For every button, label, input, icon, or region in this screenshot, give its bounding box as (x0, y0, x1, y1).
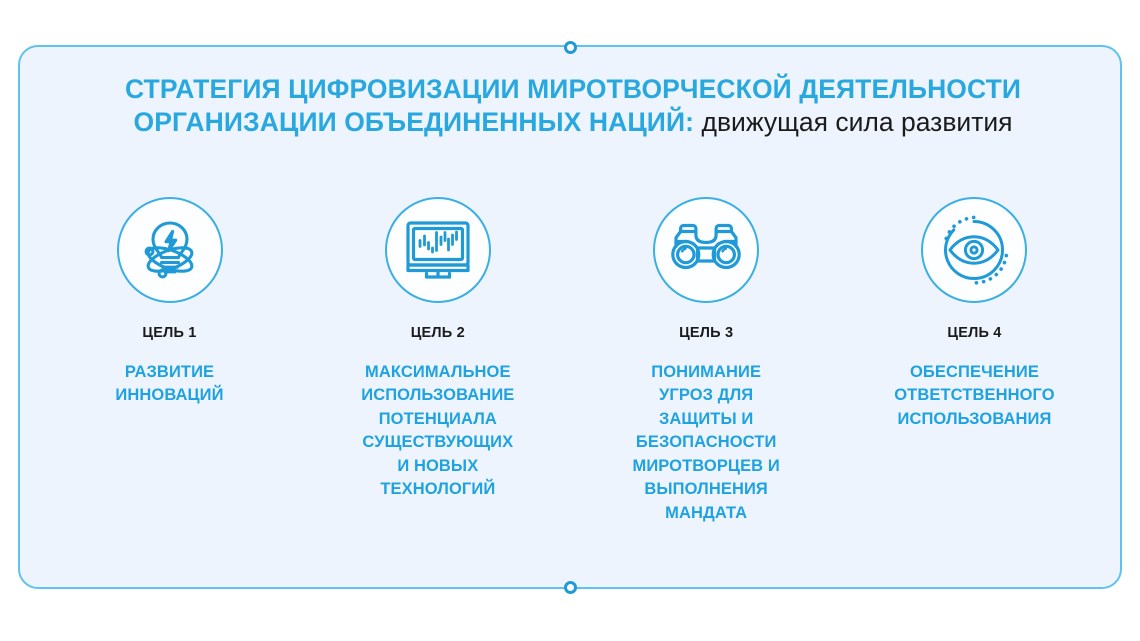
goal-3-icon-circle (653, 197, 759, 303)
bottom-connector-dot (564, 581, 577, 594)
title-line-1-accent: СТРАТЕГИЯ ЦИФРОВИЗАЦИИ МИРОТВОРЧЕСКОЙ ДЕ… (125, 74, 1021, 104)
goal-1-label: ЦЕЛЬ 1 (142, 325, 196, 341)
goal-column-1: ЦЕЛЬ 1 РАЗВИТИЕ ИННОВАЦИЙ (42, 197, 297, 408)
eye-radar-icon (935, 211, 1013, 289)
goal-column-3: ЦЕЛЬ 3 ПОНИМАНИЕ УГРОЗ ДЛЯ ЗАЩИТЫ И БЕЗО… (579, 197, 834, 525)
goal-3-text: ПОНИМАНИЕ УГРОЗ ДЛЯ ЗАЩИТЫ И БЕЗОПАСНОСТ… (632, 361, 779, 525)
goal-1-icon-circle (117, 197, 223, 303)
goal-1-text: РАЗВИТИЕ ИННОВАЦИЙ (115, 361, 223, 408)
goal-column-4: ЦЕЛЬ 4 ОБЕСПЕЧЕНИЕ ОТВЕТСТВЕННОГО ИСПОЛЬ… (847, 197, 1102, 431)
page-title: СТРАТЕГИЯ ЦИФРОВИЗАЦИИ МИРОТВОРЧЕСКОЙ ДЕ… (68, 73, 1078, 140)
title-line-1: СТРАТЕГИЯ ЦИФРОВИЗАЦИИ МИРОТВОРЧЕСКОЙ ДЕ… (68, 73, 1078, 106)
goal-column-2: ЦЕЛЬ 2 МАКСИМАЛЬНОЕ ИСПОЛЬЗОВАНИЕ ПОТЕНЦ… (310, 197, 565, 502)
goal-4-text: ОБЕСПЕЧЕНИЕ ОТВЕТСТВЕННОГО ИСПОЛЬЗОВАНИЯ (894, 361, 1054, 431)
binoculars-icon (668, 215, 744, 285)
title-line-2-plain: движущая сила развития (702, 107, 1013, 137)
monitor-chart-icon (401, 213, 475, 287)
content-frame: СТРАТЕГИЯ ЦИФРОВИЗАЦИИ МИРОТВОРЧЕСКОЙ ДЕ… (18, 45, 1122, 589)
top-connector-dot (564, 41, 577, 54)
title-line-2: ОРГАНИЗАЦИИ ОБЪЕДИНЕННЫХ НАЦИЙ: движущая… (68, 106, 1078, 139)
goal-2-label: ЦЕЛЬ 2 (411, 325, 465, 341)
title-line-2-accent: ОРГАНИЗАЦИИ ОБЪЕДИНЕННЫХ НАЦИЙ: (133, 107, 694, 137)
goal-2-text: МАКСИМАЛЬНОЕ ИСПОЛЬЗОВАНИЕ ПОТЕНЦИАЛА СУ… (361, 361, 514, 502)
goal-4-icon-circle (921, 197, 1027, 303)
lightbulb-atom-icon (131, 211, 209, 289)
goal-4-label: ЦЕЛЬ 4 (947, 325, 1001, 341)
goal-3-label: ЦЕЛЬ 3 (679, 325, 733, 341)
slide-root: СТРАТЕГИЯ ЦИФРОВИЗАЦИИ МИРОТВОРЧЕСКОЙ ДЕ… (0, 0, 1140, 641)
goal-2-icon-circle (385, 197, 491, 303)
goals-row: ЦЕЛЬ 1 РАЗВИТИЕ ИННОВАЦИЙ (42, 197, 1102, 525)
